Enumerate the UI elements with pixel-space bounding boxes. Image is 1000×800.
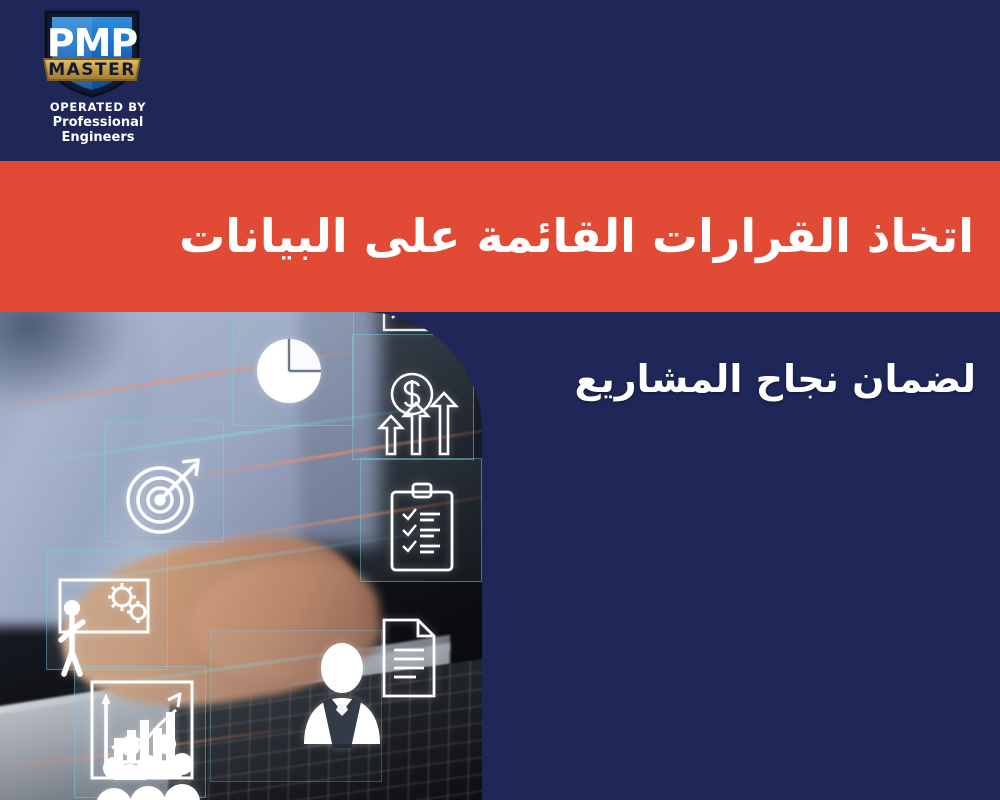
document-lines-icon: [376, 616, 442, 700]
brand-logo[interactable]: PMP MASTER OPERATED BY Professional Engi…: [22, 4, 162, 136]
title-banner: اتخاذ القرارات القائمة على البيانات: [0, 161, 1000, 312]
dollar-growth-icon: [370, 370, 462, 456]
presenter-gears-icon: [50, 570, 160, 680]
brand-tagline: OPERATED BY Professional Engineers: [22, 100, 174, 145]
tagline-operated-by: OPERATED BY: [22, 100, 174, 114]
hero-photo: 72%: [0, 312, 482, 800]
pie-chart-icon: [252, 334, 326, 408]
header-bar: PMP MASTER OPERATED BY Professional Engi…: [0, 0, 1000, 161]
tagline-professional-engineers: Professional Engineers: [22, 115, 174, 145]
slide-canvas: PMP MASTER OPERATED BY Professional Engi…: [0, 0, 1000, 800]
subtitle-text: لضمان نجاح المشاريع: [575, 355, 976, 404]
shield-banner-text: MASTER: [48, 60, 136, 80]
page-title: اتخاذ القرارات القائمة على البيانات: [179, 208, 1000, 266]
businessman-avatar-icon: [296, 642, 388, 752]
analytics-panel-icon: [380, 312, 444, 338]
clipboard-checklist-icon: [382, 480, 462, 576]
people-group-icon: [92, 732, 212, 800]
target-arrow-icon: [120, 452, 206, 538]
pmp-shield-icon: PMP MASTER: [36, 6, 148, 98]
